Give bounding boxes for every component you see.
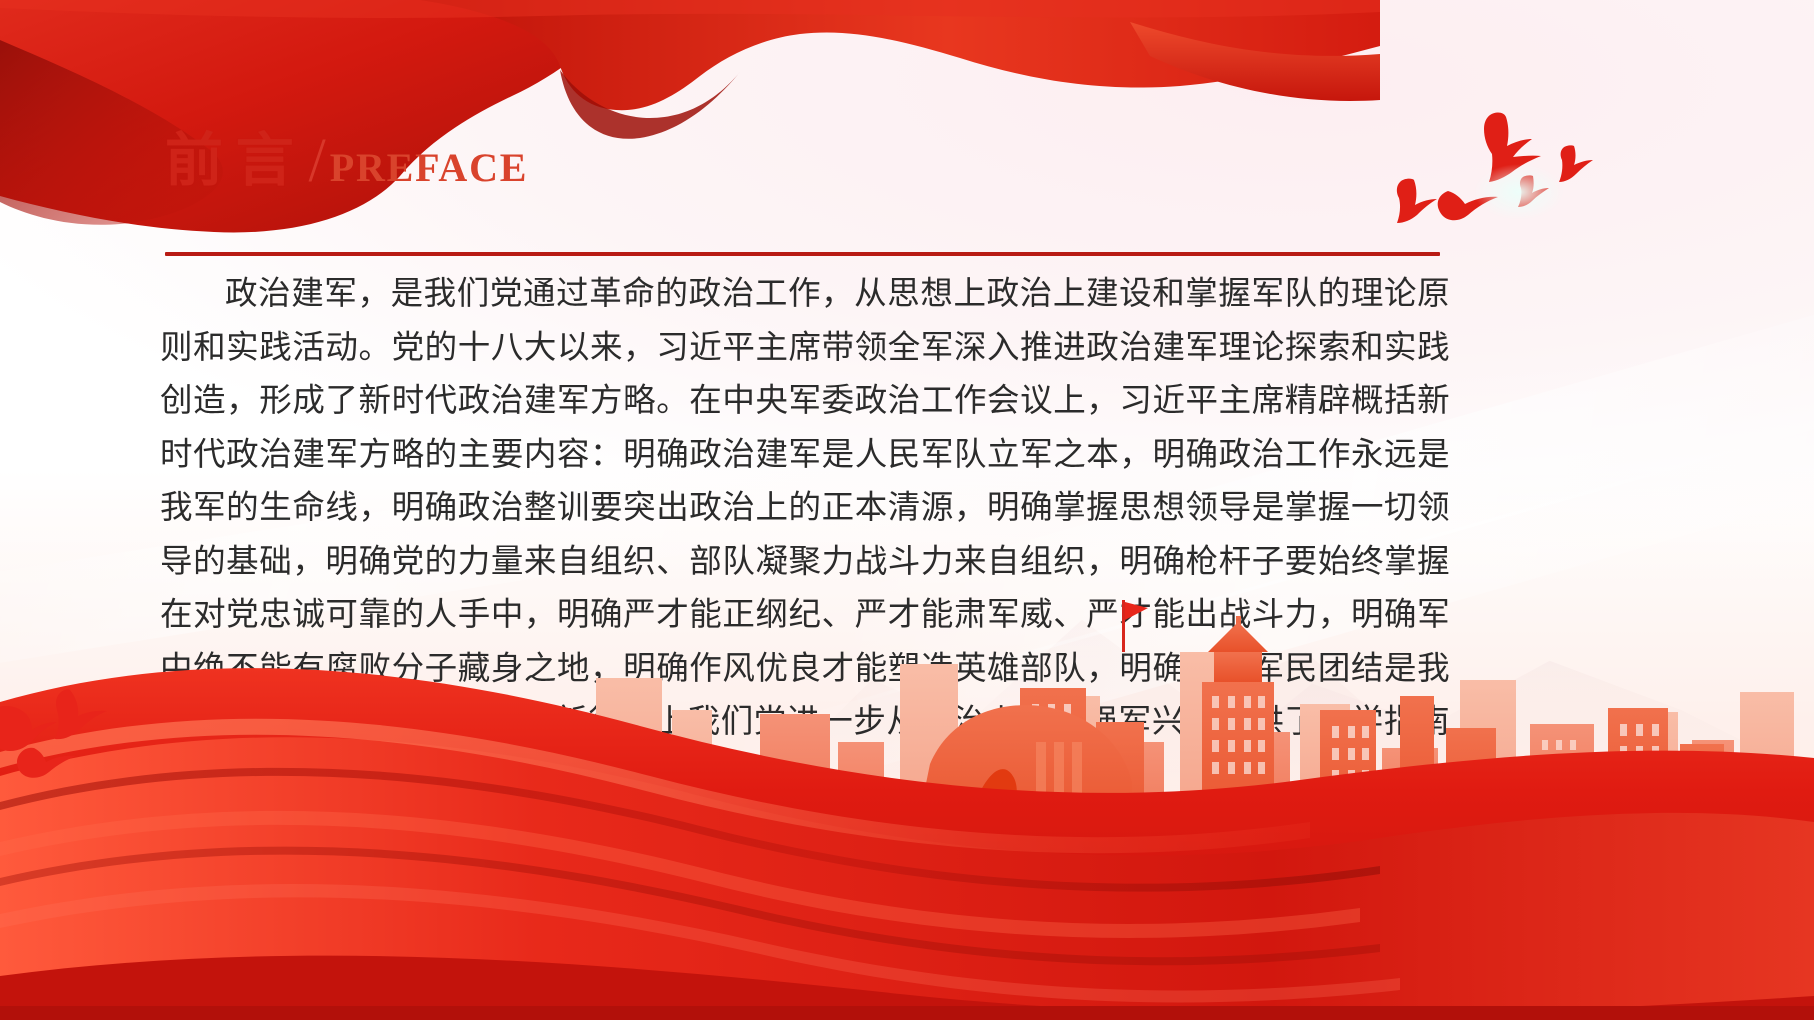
header-divider <box>165 252 1440 256</box>
preface-slide: 前言 / PREFACE 政治建军，是我们党通过革命的政治工作，从思想上政治上建… <box>0 0 1814 1020</box>
page-title-en: PREFACE <box>330 148 529 188</box>
red-flag-icon <box>1118 600 1152 652</box>
page-title-cn: 前言 <box>165 132 307 190</box>
preface-paragraph: 政治建军，是我们党通过革命的政治工作，从思想上政治上建设和掌握军队的理论原则和实… <box>160 268 1450 803</box>
title-separator: / <box>309 130 326 192</box>
page-header: 前言 / PREFACE <box>165 128 528 190</box>
